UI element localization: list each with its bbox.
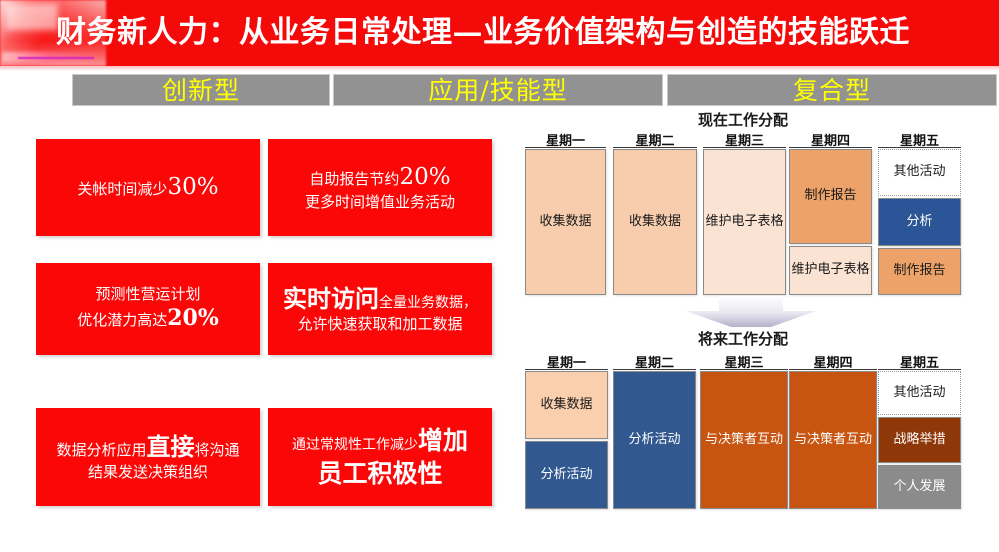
benefit-card-text: 全量业务数据， [379, 294, 477, 312]
benefit-card-line: 数据分析应用直接将沟通 [56, 431, 239, 463]
allocation-block: 其他活动 [878, 149, 961, 196]
title-banner: 财务新人力：从业务日常处理—业务价值架构与创造的技能跃迁 [0, 0, 999, 66]
allocation-block: 维护电子表格 [789, 246, 872, 295]
day-column-header: 星期一 [525, 353, 608, 370]
card-close-time: 关帐时间减少 30% [36, 139, 260, 236]
allocation-block: 个人发展 [878, 465, 961, 509]
day-column-header: 星期二 [613, 353, 696, 370]
benefit-card-line: 预测性营运计划 [95, 285, 200, 305]
card-employee-motivation: 通过常规性工作减少增加员工积极性 [268, 408, 492, 506]
category-label-0: 创新型 [162, 78, 240, 103]
card-data-analysis-direct: 数据分析应用直接将沟通结果发送决策组织 [36, 408, 260, 506]
day-column-header: 星期一 [525, 131, 606, 148]
day-column-header: 星期四 [789, 353, 877, 370]
day-column-header: 星期四 [789, 131, 872, 148]
benefit-card-text: 员工积极性 [317, 457, 442, 490]
allocation-block: 战略举措 [878, 417, 961, 463]
card-self-service-report: 自助报告节约20%更多时间增值业务活动 [268, 139, 492, 236]
benefit-card-line: 自助报告节约20% [309, 162, 450, 192]
category-label-2: 复合型 [793, 78, 871, 103]
benefit-card-text: 允许快速获取和加工数据 [297, 315, 462, 335]
benefit-card-line: 员工积极性 [317, 457, 442, 490]
allocation-block: 分析活动 [525, 441, 608, 509]
benefit-card-text: 结果发送决策组织 [88, 463, 208, 483]
category-header-composite: 复合型 [667, 74, 997, 106]
benefit-card-line: 优化潜力高达20% [77, 304, 219, 333]
chart-title: 将来工作分配 [525, 327, 961, 349]
benefit-card-text: 20% [399, 162, 450, 192]
benefit-card-line: 关帐时间减少 30% [77, 172, 218, 202]
allocation-block: 分析活动 [613, 371, 696, 509]
allocation-block: 分析 [878, 198, 961, 246]
card-realtime-access: 实时访问全量业务数据，允许快速获取和加工数据 [268, 263, 492, 355]
benefit-card-text: 通过常规性工作减少 [292, 436, 418, 454]
category-label-1: 应用/技能型 [428, 78, 567, 103]
chart-title: 现在工作分配 [525, 108, 961, 130]
benefit-card-line: 允许快速获取和加工数据 [297, 315, 462, 335]
allocation-block: 与决策者互动 [700, 371, 788, 509]
day-column-header: 星期五 [878, 353, 961, 370]
day-column-header: 星期二 [613, 131, 697, 148]
benefit-card-text: 20% [167, 304, 219, 333]
allocation-block: 收集数据 [525, 149, 606, 295]
banner-bottom-fade [0, 66, 999, 71]
card-predictive-plan: 预测性营运计划优化潜力高达20% [36, 263, 260, 355]
allocation-block: 收集数据 [525, 371, 608, 439]
allocation-block: 制作报告 [878, 248, 961, 295]
benefit-card-line: 通过常规性工作减少增加 [292, 424, 468, 457]
benefit-card-text: 优化潜力高达 [77, 311, 167, 331]
benefit-card-line: 结果发送决策组织 [88, 463, 208, 483]
benefit-card-text: 实时访问 [283, 283, 379, 315]
category-header-applied-skill: 应用/技能型 [333, 74, 663, 106]
category-header-innovative: 创新型 [72, 74, 330, 106]
page-title: 财务新人力：从业务日常处理—业务价值架构与创造的技能跃迁 [56, 8, 910, 58]
allocation-block: 与决策者互动 [789, 371, 877, 509]
benefit-card-text: 预测性营运计划 [95, 285, 200, 305]
day-column-header: 星期三 [700, 353, 788, 370]
benefit-card-text: 增加 [418, 424, 468, 457]
benefit-card-text: 30% [167, 172, 218, 202]
benefit-card-line: 更多时间增值业务活动 [305, 193, 455, 213]
day-column-header: 星期五 [878, 131, 961, 148]
allocation-block: 其他活动 [878, 371, 961, 415]
day-column-header: 星期三 [703, 131, 786, 148]
benefit-card-text: 将沟通 [195, 441, 240, 461]
benefit-card-text: 更多时间增值业务活动 [305, 193, 455, 213]
benefit-card-text: 关帐时间减少 [77, 180, 167, 200]
benefit-card-text: 自助报告节约 [309, 170, 399, 190]
benefit-card-text: 直接 [147, 431, 195, 463]
allocation-block: 制作报告 [789, 149, 872, 244]
benefit-card-text: 数据分析应用 [56, 441, 146, 461]
benefit-card-line: 实时访问全量业务数据， [283, 283, 477, 315]
allocation-block: 维护电子表格 [703, 149, 786, 295]
allocation-block: 收集数据 [613, 149, 697, 295]
